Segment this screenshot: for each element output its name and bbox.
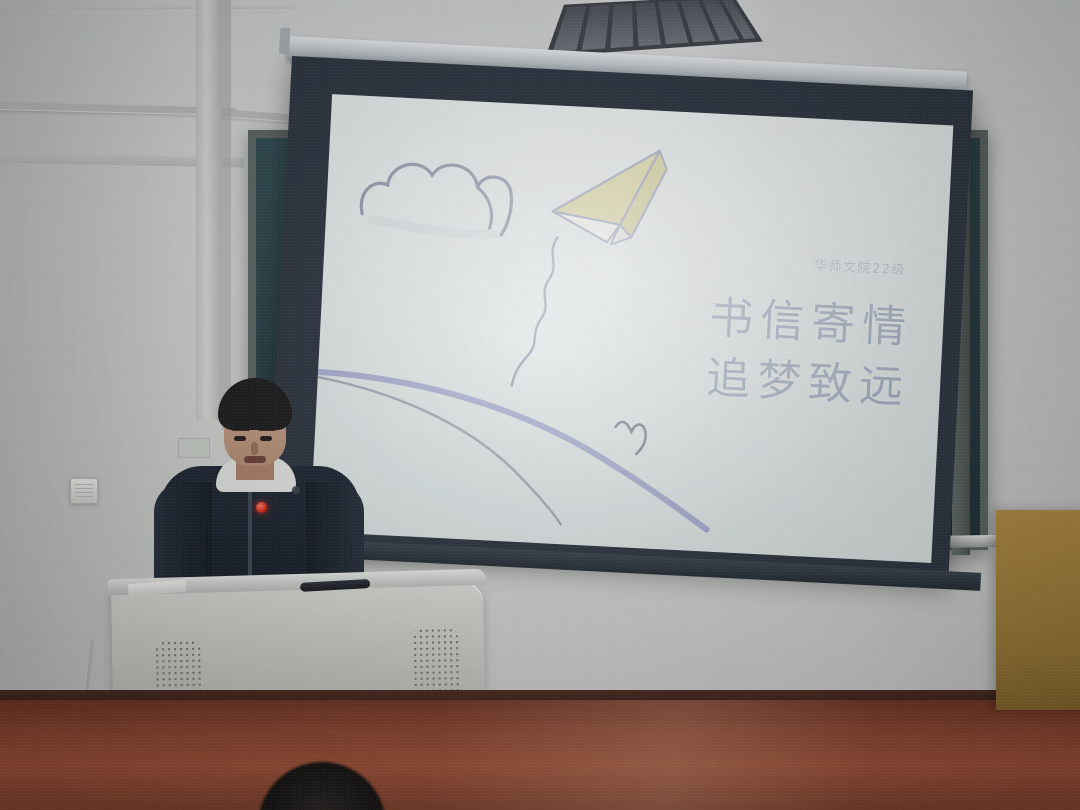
wall-seam-top	[0, 6, 294, 9]
slide-surface[interactable]: 华师文院22级 书信寄情 追梦致远	[310, 94, 953, 563]
wooden-panel	[996, 510, 1080, 710]
bird-icon	[614, 422, 646, 455]
wall-column	[196, 0, 222, 420]
wall-column-shadow	[222, 0, 231, 430]
housing-bracket-icon	[279, 28, 290, 54]
slide-title-line-2: 追梦致远	[705, 341, 912, 415]
photo-scene: 华师文院22级 书信寄情 追梦致远	[0, 0, 1080, 810]
presenter-jacket-button-icon	[292, 486, 300, 494]
floor-reflection	[0, 700, 1080, 810]
plane-trail-icon	[512, 236, 558, 388]
podium-body	[111, 581, 485, 705]
presenter-badge-led-icon	[256, 502, 267, 513]
horizon-arc-thick	[310, 371, 714, 529]
presenter-hair	[218, 378, 292, 430]
projection-screen[interactable]: 华师文院22级 书信寄情 追梦致远	[267, 56, 973, 578]
wall-socket-icon[interactable]	[70, 478, 98, 504]
paper-airplane-icon	[551, 145, 668, 247]
